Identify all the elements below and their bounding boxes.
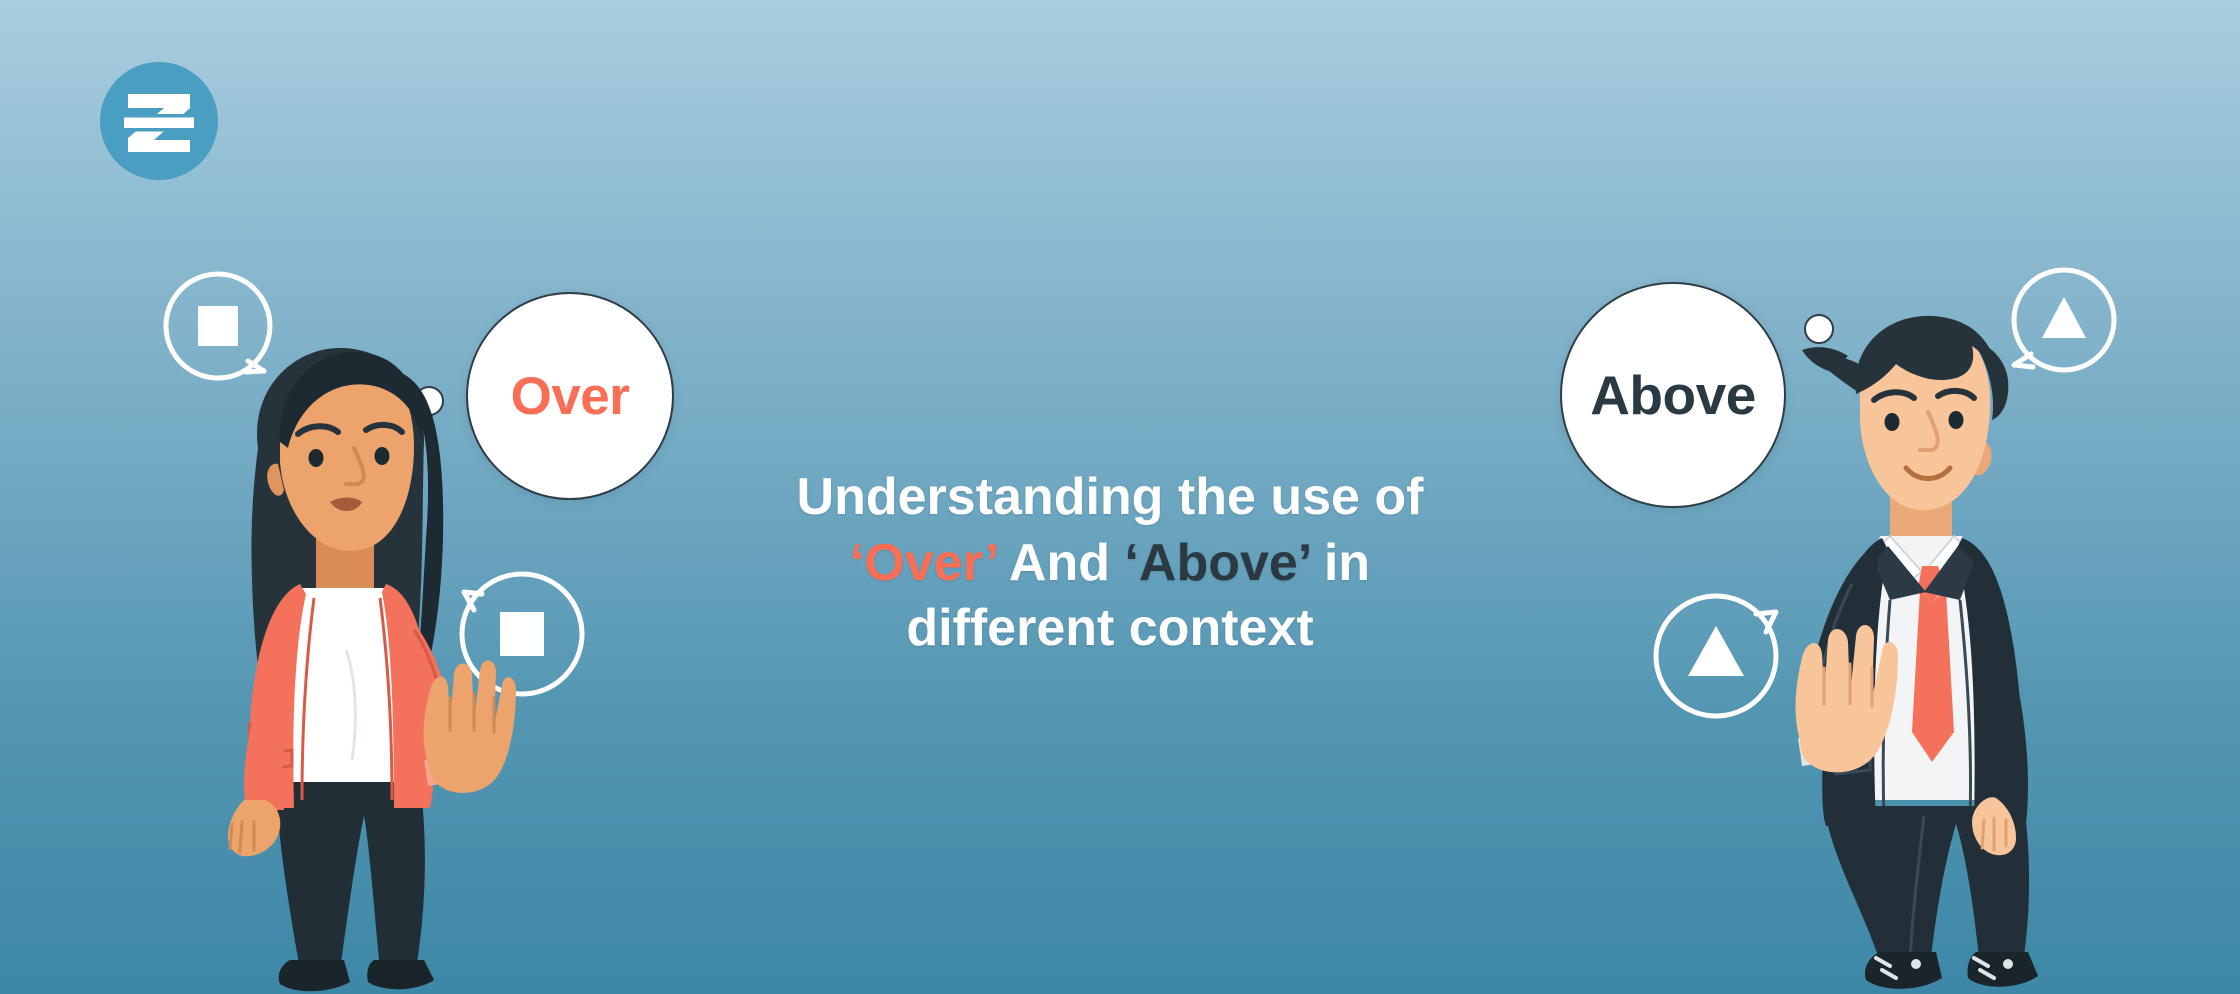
headline-line-1: Understanding the use of [660, 465, 1560, 531]
character-woman [188, 330, 518, 994]
headline-line-2: ‘Over’ And ‘Above’ in [660, 531, 1560, 597]
z-logo-icon [122, 84, 196, 158]
headline-preposition: in [1309, 534, 1370, 592]
word-bubble-above-label: Above [1590, 363, 1756, 427]
triangle-glyph-icon [1688, 626, 1744, 676]
brand-logo[interactable] [100, 62, 218, 180]
headline-conjunction: And [996, 534, 1124, 592]
page-title: Understanding the use of ‘Over’ And ‘Abo… [660, 465, 1560, 662]
headline-keyword-above: ‘Above’ [1124, 534, 1309, 592]
character-man [1740, 300, 2100, 994]
banner-root: Over Above Understanding the use of ‘Ove… [0, 0, 2240, 994]
word-bubble-over-label: Over [511, 366, 630, 427]
headline-keyword-over: ‘Over’ [850, 534, 996, 592]
headline-line-3: different context [660, 596, 1560, 662]
